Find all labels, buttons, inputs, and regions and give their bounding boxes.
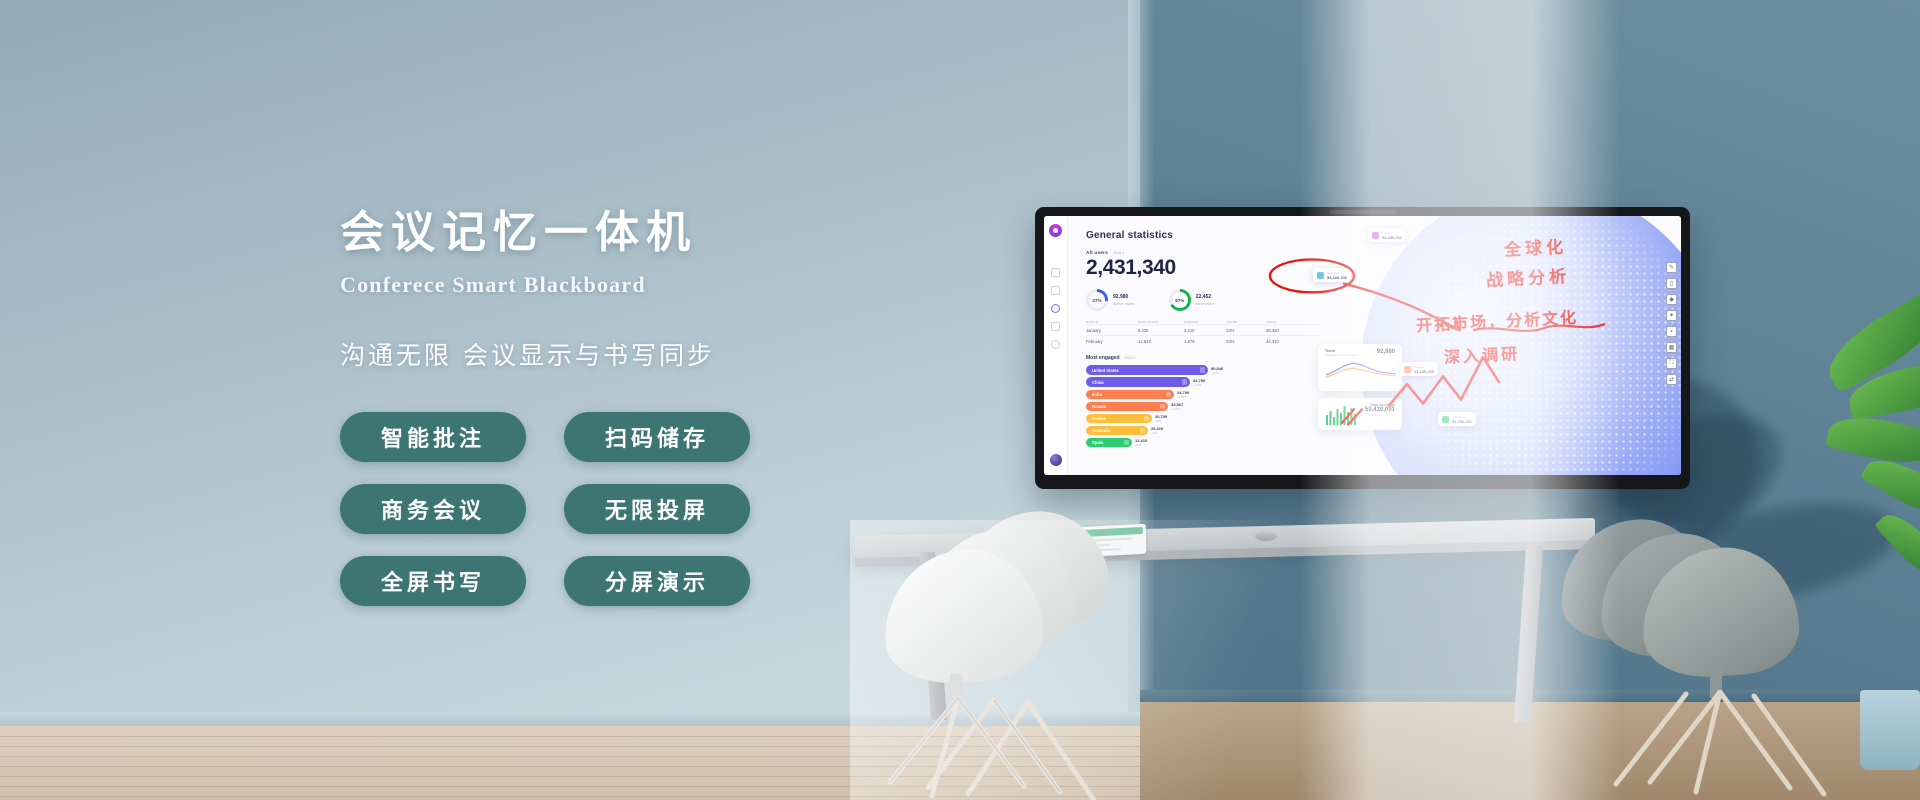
feature-pill-fullscreen-write[interactable]: 全屏书写	[340, 556, 526, 606]
map-pin-toronto[interactable]: Toronto 53,430,001	[1368, 228, 1406, 242]
bar-delta: +680	[1155, 419, 1167, 423]
map-pin-sao-paulo[interactable]: São Paulo 41,790,011	[1438, 412, 1476, 426]
col-total: TOTAL	[1266, 320, 1306, 324]
pin-swatch-icon	[1404, 366, 1411, 373]
cell-month: January	[1086, 325, 1138, 335]
bar-flag-icon	[1182, 379, 1188, 385]
feature-pill-split-present[interactable]: 分屏演示	[564, 556, 750, 606]
map-pin-manaus[interactable]: Manaus 23,180,290	[1400, 362, 1438, 376]
bar-flag-icon	[1124, 440, 1130, 446]
coverage-card[interactable]: Total coverage 53,430,001 Compared to 30…	[1318, 398, 1402, 430]
bar-flag-icon	[1140, 428, 1146, 434]
bar-country: Spain	[1092, 440, 1103, 445]
list-item[interactable]: Spain 12,410 +305	[1086, 438, 1681, 448]
coverage-card-sub: Compared to 30% left	[1362, 414, 1395, 417]
most-engaged-period[interactable]: 2024 ▾	[1125, 356, 1135, 360]
pin-value: 23,180,290	[1414, 369, 1434, 374]
shape-icon[interactable]: ◆	[1666, 294, 1677, 305]
monthly-table: MONTH NEW USERS ORDERS TREND TOTAL Janua…	[1086, 320, 1322, 346]
trend-card-value: 92,980	[1377, 349, 1395, 355]
lock-icon[interactable]: ▪	[1666, 326, 1677, 337]
bar-delta: +441	[1151, 431, 1163, 435]
table-row: February 12,543 1,879 23% 44,310	[1086, 335, 1322, 346]
cell-orders: 3,210	[1184, 325, 1226, 335]
donut-new-users: 67% 22,452 New users	[1169, 289, 1215, 311]
bar-value: 50,546	[1211, 366, 1223, 371]
trend-card[interactable]: Trend Compared to 12% last year 92,980	[1318, 344, 1402, 391]
pin-swatch-icon	[1317, 272, 1324, 279]
cell-new: 8,430	[1138, 325, 1184, 335]
all-users-label: All users	[1086, 250, 1108, 255]
feature-pill-grid: 智能批注 扫码储存 商务会议 无限投屏 全屏书写 分屏演示	[340, 412, 900, 606]
sidebar-item-reports-icon[interactable]	[1051, 286, 1060, 295]
bar-delta: +1.26%	[1171, 407, 1183, 411]
donut-active-users: 27% 92,980 Active users	[1086, 289, 1135, 311]
blackboard-toolbar: ✎ ▯ ◆ ✦ ▪ ▦ ⛶ ⇄	[1666, 262, 1677, 385]
bar-country: China	[1092, 380, 1104, 385]
col-orders: ORDERS	[1184, 320, 1226, 324]
bar-flag-icon	[1144, 416, 1150, 422]
donut-stats: 27% 92,980 Active users 67%	[1086, 289, 1681, 311]
eraser-icon[interactable]: ▯	[1666, 278, 1677, 289]
sidebar-item-globe-icon[interactable]	[1051, 304, 1060, 313]
trend-card-title: Trend	[1325, 349, 1358, 353]
total-users-value: 2,431,340	[1086, 256, 1681, 280]
coverage-card-value: 53,430,001	[1362, 407, 1395, 413]
table-header-row: MONTH NEW USERS ORDERS TREND TOTAL	[1086, 320, 1322, 324]
coverage-bar-chart	[1325, 403, 1357, 425]
plant-pot	[1860, 690, 1920, 770]
table-row: January 8,430 3,210 13% 25,320	[1086, 324, 1322, 335]
pin-swatch-icon	[1442, 416, 1449, 423]
pen-icon[interactable]: ✎	[1666, 262, 1677, 273]
bar-value: 44,790	[1193, 378, 1205, 383]
hero-tagline: 沟通无限 会议显示与书写同步	[340, 336, 900, 372]
cell-orders: 1,879	[1184, 336, 1226, 346]
table-puck	[1255, 531, 1277, 541]
feature-pill-qr-storage[interactable]: 扫码储存	[564, 412, 750, 462]
pin-swatch-icon	[1372, 232, 1379, 239]
app-logo-icon	[1049, 224, 1062, 237]
bar-delta: +305	[1135, 443, 1147, 447]
feature-pill-wireless-cast[interactable]: 无限投屏	[564, 484, 750, 534]
dashboard-main: General statistics All users 2024 ▾ 2,43…	[1068, 216, 1681, 475]
cell-trend: 23%	[1226, 336, 1266, 346]
chair-base-legs	[872, 696, 1132, 800]
share-icon[interactable]: ⇄	[1666, 374, 1677, 385]
bar-delta: +1.30%	[1177, 395, 1189, 399]
pin-value: 53,430,001	[1382, 235, 1402, 240]
col-month: MONTH	[1086, 320, 1138, 324]
cell-new: 12,543	[1138, 336, 1184, 346]
camera-notch-icon	[1330, 210, 1396, 214]
bar-country: France	[1092, 416, 1106, 421]
trend-line-chart	[1325, 359, 1397, 381]
most-engaged-label: Most engaged	[1086, 355, 1120, 361]
donut-label-active: Active users	[1113, 301, 1135, 306]
bar-delta: +7.2%	[1211, 371, 1223, 375]
col-new-users: NEW USERS	[1138, 320, 1184, 324]
donut-value-new: 22,452	[1196, 294, 1215, 300]
donut-chart-new: 67%	[1169, 289, 1191, 311]
page-subtitle: Conferece Smart Blackboard	[340, 272, 900, 298]
bar-country: Russia	[1092, 404, 1106, 409]
map-pin-new-york[interactable]: New York 53,326,300	[1313, 268, 1351, 282]
sidebar-item-settings-icon[interactable]	[1051, 340, 1060, 349]
screen-surface[interactable]: General statistics All users 2024 ▾ 2,43…	[1044, 216, 1681, 475]
bar-delta: +1.2%	[1193, 383, 1205, 387]
donut-value-active: 92,980	[1113, 294, 1135, 300]
all-users-period[interactable]: 2024 ▾	[1113, 251, 1124, 255]
bar-country: Australia	[1092, 428, 1110, 433]
pin-value: 53,326,300	[1327, 275, 1347, 280]
all-users-row: All users 2024 ▾	[1086, 250, 1681, 255]
highlight-icon[interactable]: ✦	[1666, 310, 1677, 321]
cell-total: 44,310	[1266, 336, 1306, 346]
bar-flag-icon	[1160, 404, 1166, 410]
sidebar-item-cards-icon[interactable]	[1051, 322, 1060, 331]
bar-country: United States	[1092, 368, 1119, 373]
cell-total: 25,320	[1266, 325, 1306, 335]
cell-trend: 13%	[1226, 325, 1266, 335]
trend-card-sub: Compared to 12% last year	[1325, 354, 1358, 357]
grid-icon[interactable]: ▦	[1666, 342, 1677, 353]
donut-label-new: New users	[1196, 301, 1215, 306]
feature-pill-smart-annotation[interactable]: 智能批注	[340, 412, 526, 462]
bar-flag-icon	[1200, 367, 1206, 373]
pin-value: 41,790,011	[1452, 419, 1472, 424]
page-title: 会议记忆一体机	[340, 196, 900, 260]
col-trend: TREND	[1226, 320, 1266, 324]
donut-percent-active: 27%	[1092, 298, 1101, 303]
cell-month: February	[1086, 336, 1138, 346]
hero-copy: 会议记忆一体机 Conferece Smart Blackboard 沟通无限 …	[340, 196, 900, 606]
chair-base-legs	[1600, 690, 1860, 800]
smart-blackboard-display: General statistics All users 2024 ▾ 2,43…	[1035, 207, 1690, 489]
bar-country: India	[1092, 392, 1102, 397]
bar-flag-icon	[1166, 392, 1172, 398]
avatar[interactable]	[1050, 454, 1062, 466]
fullscreen-icon[interactable]: ⛶	[1666, 358, 1677, 369]
scene: 会议记忆一体机 Conferece Smart Blackboard 沟通无限 …	[0, 0, 1920, 800]
donut-percent-new: 67%	[1175, 298, 1184, 303]
dashboard-sidebar	[1044, 216, 1068, 475]
feature-pill-business-meeting[interactable]: 商务会议	[340, 484, 526, 534]
donut-chart-active: 27%	[1086, 289, 1108, 311]
sidebar-item-dashboard-icon[interactable]	[1051, 268, 1060, 277]
